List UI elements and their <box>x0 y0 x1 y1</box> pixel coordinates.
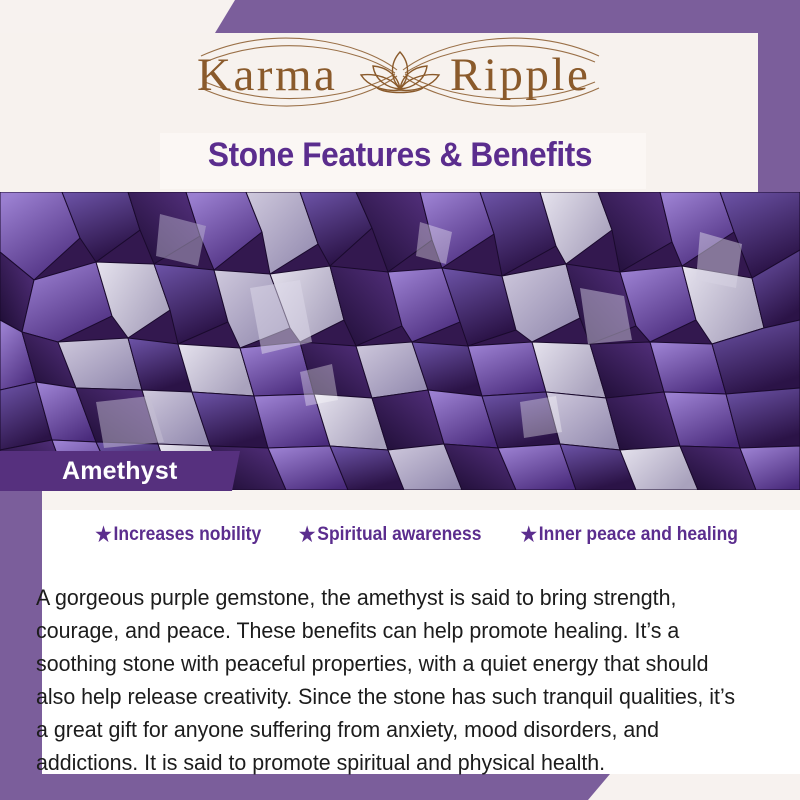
brand-logo: Karma Ripple <box>0 24 800 124</box>
brand-name-right: Ripple <box>450 49 590 101</box>
benefit-item-1: ★ Increases nobility <box>96 524 262 546</box>
lotus-icon <box>361 52 439 93</box>
stone-description: A gorgeous purple gemstone, the amethyst… <box>36 581 749 779</box>
benefit-label-1: Increases nobility <box>114 524 262 546</box>
star-icon: ★ <box>96 525 113 545</box>
amethyst-photo <box>0 192 800 490</box>
benefit-item-3: ★ Inner peace and healing <box>521 524 738 546</box>
benefits-list: ★ Increases nobility ★ Spiritual awarene… <box>42 518 794 552</box>
benefit-item-2: ★ Spiritual awareness <box>299 524 482 546</box>
banner-underlay-strip <box>42 488 800 510</box>
brand-logo-svg: Karma Ripple <box>165 26 635 122</box>
amethyst-photo-svg <box>0 192 800 490</box>
product-info-card: Karma Ripple Stone Features & Benefits <box>0 0 800 800</box>
benefit-label-2: Spiritual awareness <box>317 524 481 546</box>
stone-name-banner: Amethyst <box>0 451 240 491</box>
benefit-label-3: Inner peace and healing <box>539 524 738 546</box>
page-title: Stone Features & Benefits <box>28 136 772 175</box>
star-icon: ★ <box>299 525 316 545</box>
stone-name-label: Amethyst <box>62 457 178 486</box>
brand-name-left: Karma <box>197 49 337 101</box>
star-icon: ★ <box>521 525 538 545</box>
